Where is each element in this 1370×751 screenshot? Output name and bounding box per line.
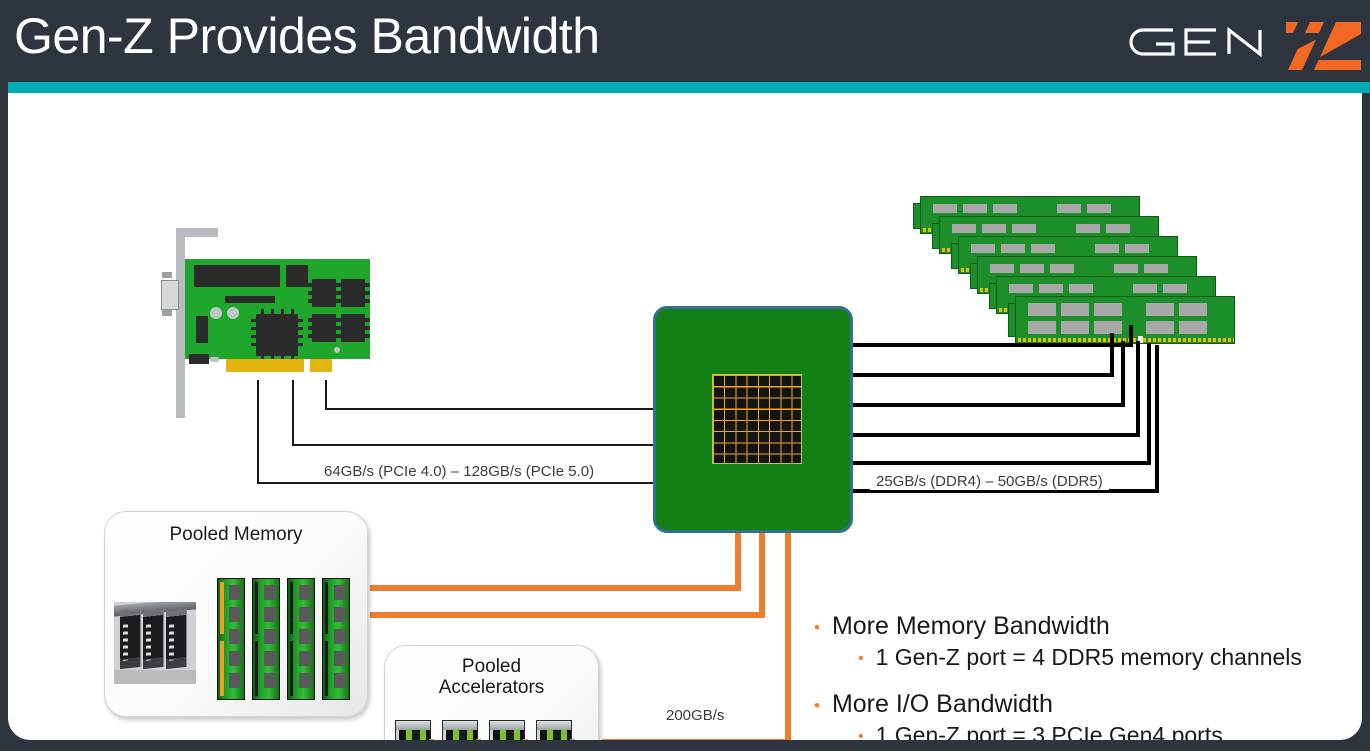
accelerator-card: [395, 720, 431, 740]
pcie-wire-h-3: [325, 408, 655, 410]
slide: Gen-Z Provides Bandwidth: [0, 0, 1370, 751]
pcie-bandwidth-label: 64GB/s (PCIe 4.0) – 128GB/s (PCIe 5.0): [318, 463, 600, 480]
pooled-memory-title: Pooled Memory: [105, 524, 367, 545]
pcie-screw-top: [162, 272, 172, 278]
accelerator-card: [536, 720, 572, 740]
pooled-dimm: [217, 578, 245, 700]
bullet-list: • More Memory Bandwidth • 1 Gen-Z port =…: [814, 611, 1344, 740]
genz-bandwidth-label: 200GB/s: [660, 707, 730, 724]
bullet-text: More I/O Bandwidth: [832, 689, 1053, 719]
diagram-canvas: 25GB/s (DDR4) – 50GB/s (DDR5) 64GB/s (PC…: [8, 93, 1362, 740]
bullet-text: More Memory Bandwidth: [832, 611, 1110, 641]
soc-die-grid: [712, 374, 802, 464]
bullet-dot-icon: •: [858, 643, 864, 667]
pooled-dimm: [252, 578, 280, 700]
ddr-wire-v-1: [1129, 325, 1133, 347]
ddr-wire-h-4: [853, 433, 1140, 437]
pooled-memory-box: Pooled Memory: [104, 511, 368, 717]
pooled-dimm: [287, 578, 315, 700]
ddr-wire-h-2: [853, 373, 1114, 377]
pcie-pcb: [185, 259, 370, 359]
pooled-accelerators-title-line2: Accelerators: [385, 677, 598, 698]
bullet-dot-icon: •: [814, 689, 820, 714]
bullet-item-level1: • More Memory Bandwidth: [814, 611, 1344, 641]
genz-wire-h-mem-2: [370, 612, 765, 618]
pcie-card: [158, 228, 393, 413]
gen-z-soc: [653, 306, 853, 533]
genz-wire-v-acc: [785, 533, 791, 740]
genz-wire-v-mem-1: [735, 533, 741, 588]
bullet-text: 1 Gen-Z port = 3 PCIe Gen4 ports: [876, 721, 1223, 740]
ddr-bandwidth-label: 25GB/s (DDR4) – 50GB/s (DDR5): [870, 473, 1109, 490]
accent-bar: [8, 82, 1370, 93]
pooled-dimm: [322, 578, 350, 700]
ddr-dimm-stack: [920, 196, 1220, 344]
ddr-wire-h-1: [853, 343, 1133, 347]
bullet-item-level2: • 1 Gen-Z port = 3 PCIe Gen4 ports: [858, 721, 1344, 740]
ddr-wire-v-4: [1136, 341, 1140, 437]
gen-z-logo: [1110, 12, 1370, 72]
pcie-wire-v-2: [292, 380, 294, 446]
ddr-wire-v-3: [1121, 341, 1125, 407]
ddr-wire-v-6: [1155, 345, 1159, 493]
bullet-dot-icon: •: [858, 721, 864, 740]
bullet-dot-icon: •: [814, 611, 820, 636]
genz-wire-v-mem-2: [759, 533, 765, 615]
genz-wire-h-acc: [602, 739, 791, 740]
pcie-edge-connector-a: [226, 359, 304, 372]
pcie-bracket: [176, 228, 185, 418]
pcie-dsub-port: [161, 280, 179, 310]
pcie-wire-v-3: [325, 380, 327, 410]
bullet-item-level1: • More I/O Bandwidth: [814, 689, 1344, 719]
accelerator-card: [489, 720, 525, 740]
pooled-accelerators-title-line1: Pooled: [385, 656, 598, 677]
ddr-wire-v-5: [1147, 343, 1151, 465]
bullet-text: 1 Gen-Z port = 4 DDR5 memory channels: [876, 643, 1302, 671]
pcie-wire-v-1: [257, 380, 259, 484]
ddr-wire-h-5: [853, 461, 1151, 465]
pcie-wire-h-2: [292, 444, 655, 446]
logo-z-glyph: [1276, 22, 1361, 70]
genz-wire-h-mem-1: [370, 585, 741, 591]
ddr-wire-v-2: [1110, 333, 1114, 377]
dimm-module: [1015, 296, 1235, 344]
accelerator-card: [442, 720, 478, 740]
pcie-bracket-top: [176, 228, 218, 237]
ddr-wire-h-3: [853, 403, 1125, 407]
page-title: Gen-Z Provides Bandwidth: [14, 7, 600, 65]
pcie-screw-bottom: [162, 310, 172, 316]
pcie-wire-h-1: [257, 482, 655, 484]
slide-header: Gen-Z Provides Bandwidth: [0, 0, 1370, 82]
bullet-item-level2: • 1 Gen-Z port = 4 DDR5 memory channels: [858, 643, 1344, 671]
pooled-accelerators-box: Pooled Accelerators: [384, 645, 599, 740]
pcie-edge-connector-b: [310, 359, 332, 372]
server-rack-photo: [114, 602, 196, 684]
